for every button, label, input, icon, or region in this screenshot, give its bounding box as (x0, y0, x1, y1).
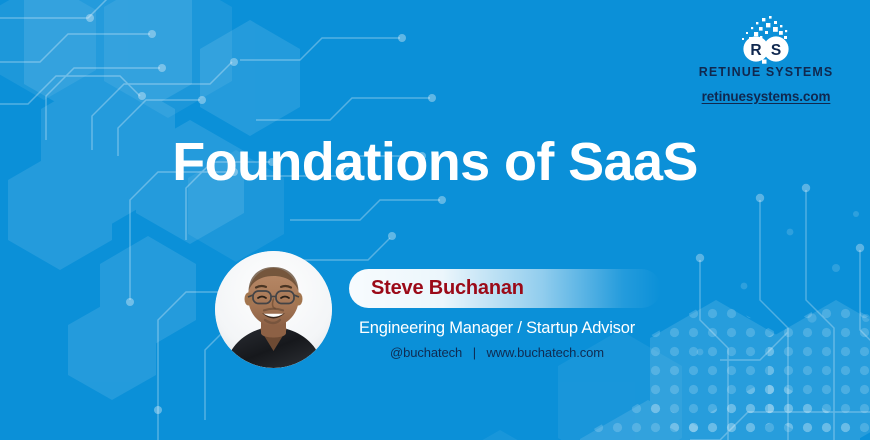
speaker-name-badge: Steve Buchanan (349, 269, 661, 308)
presentation-slide: R S RETINUE SYSTEMS retinuesystems.com F… (0, 0, 870, 440)
logo-letter-s: S (771, 42, 781, 59)
speaker-links: @buchatech | www.buchatech.com (349, 345, 645, 360)
speaker-handle[interactable]: @buchatech (390, 345, 462, 360)
page-title: Foundations of SaaS (0, 131, 870, 193)
link-separator: | (466, 345, 483, 360)
logo-letter-r: R (750, 42, 761, 59)
speaker-text-block: Steve Buchanan Engineering Manager / Sta… (349, 251, 669, 360)
speaker-website[interactable]: www.buchatech.com (486, 345, 604, 360)
avatar-portrait-image (215, 251, 332, 368)
speaker-block: Steve Buchanan Engineering Manager / Sta… (215, 251, 669, 368)
brand-block: R S RETINUE SYSTEMS retinuesystems.com (676, 16, 856, 104)
retinue-systems-logo-icon: R S (716, 16, 816, 64)
speaker-role: Engineering Manager / Startup Advisor (349, 319, 645, 338)
brand-website-link[interactable]: retinuesystems.com (676, 89, 856, 104)
avatar (215, 251, 332, 368)
brand-wordmark: RETINUE SYSTEMS (676, 66, 856, 79)
speaker-name: Steve Buchanan (371, 277, 524, 300)
logo-pixel-dust (742, 16, 787, 40)
